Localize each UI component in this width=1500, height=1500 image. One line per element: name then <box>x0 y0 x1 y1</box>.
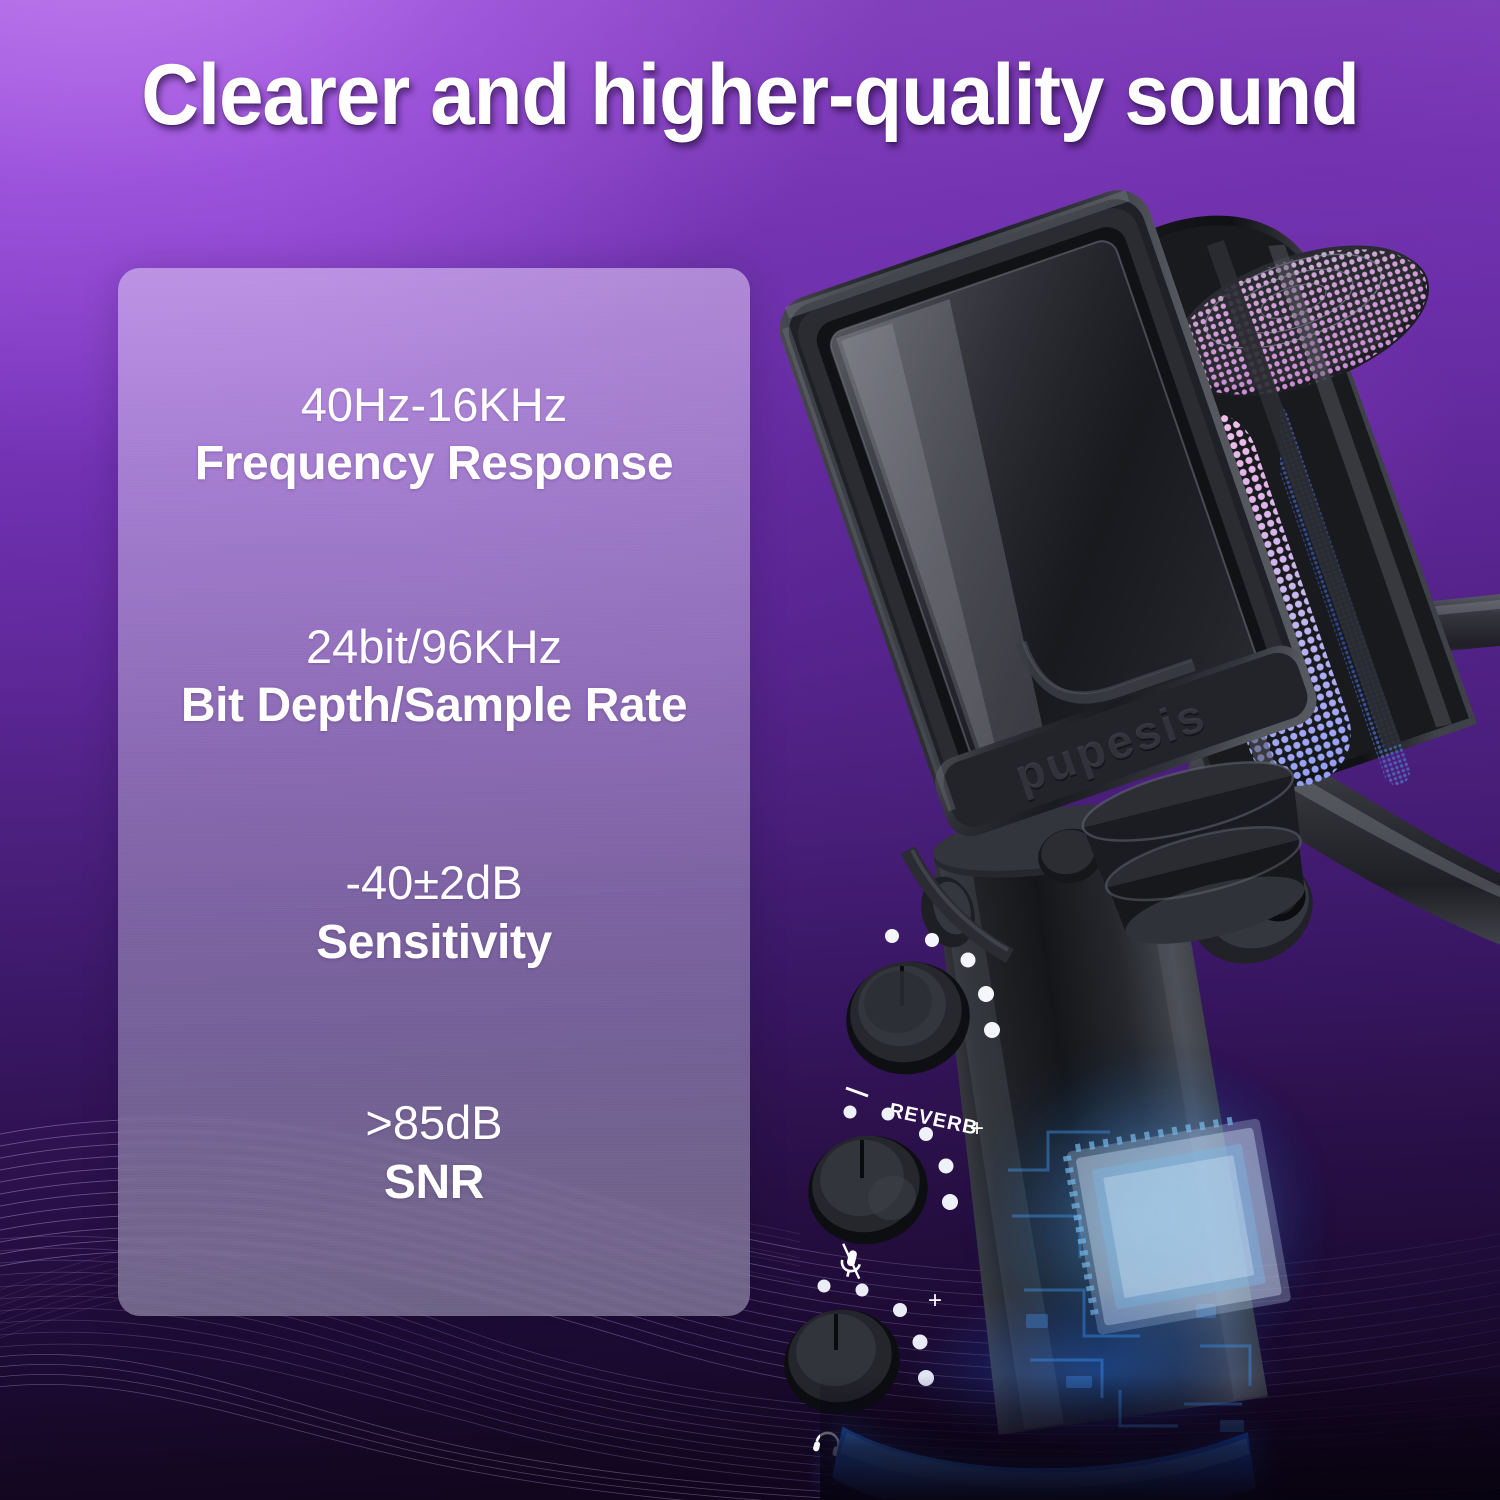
reverb-minus <box>846 1088 868 1096</box>
mic-gain-plus: + <box>928 1287 942 1314</box>
spec-value: >85dB <box>138 1097 730 1150</box>
spec-spacer <box>138 735 730 857</box>
spec-card: 40Hz-16KHz Frequency Response 24bit/96KH… <box>118 268 750 1316</box>
microphone-icon <box>836 1244 867 1280</box>
spec-spacer <box>138 971 730 1097</box>
spec-label: Frequency Response <box>138 435 730 493</box>
spec-spacer <box>138 493 730 621</box>
product-marketing-image: Clearer and higher-quality sound 40Hz-16… <box>0 0 1500 1500</box>
spec-value: -40±2dB <box>138 857 730 910</box>
mic-gain-knob[interactable] <box>798 1125 938 1256</box>
spec-block-sensitivity: -40±2dB Sensitivity <box>138 857 730 971</box>
headphone-knob[interactable] <box>780 1299 910 1425</box>
microphone-illustration: REVERB + <box>780 150 1500 1500</box>
spec-value: 40Hz-16KHz <box>138 379 730 432</box>
spec-label: Bit Depth/Sample Rate <box>138 677 730 735</box>
spec-label: SNR <box>138 1154 730 1212</box>
reverb-plus: + <box>970 1115 984 1142</box>
microphone-product: REVERB + <box>780 150 1500 1500</box>
page-title: Clearer and higher-quality sound <box>53 46 1448 145</box>
spec-block-frequency-response: 40Hz-16KHz Frequency Response <box>138 379 730 493</box>
spec-block-snr: >85dB SNR <box>138 1097 730 1211</box>
spec-value: 24bit/96KHz <box>138 621 730 674</box>
spec-label: Sensitivity <box>138 914 730 972</box>
spec-block-bit-depth-sample-rate: 24bit/96KHz Bit Depth/Sample Rate <box>138 621 730 735</box>
